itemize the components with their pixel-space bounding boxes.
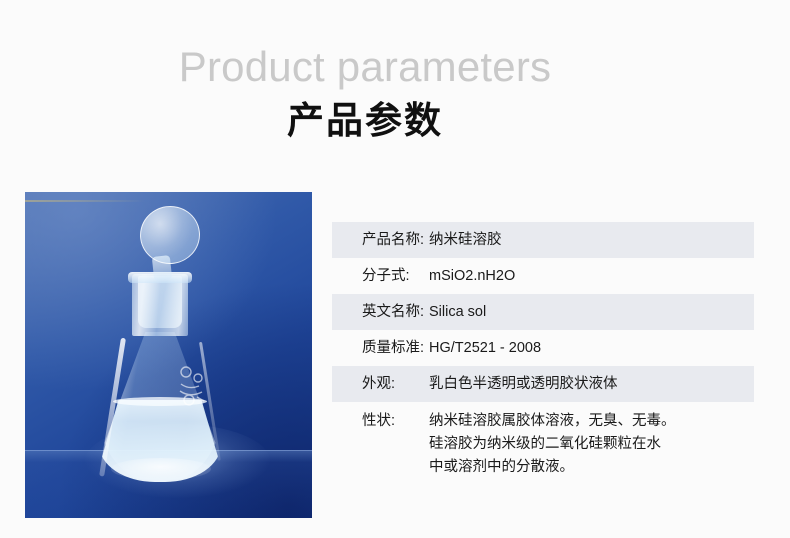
flask-bottom-sheen <box>111 458 211 480</box>
product-parameters-page: Product parameters 产品参数 <box>0 0 790 538</box>
spec-value-line: Silica sol <box>429 301 754 324</box>
flask-cap-disc <box>136 202 203 268</box>
table-row: 英文名称:Silica sol <box>332 294 754 330</box>
specification-table: 产品名称:纳米硅溶胶分子式:mSiO2.nH2O英文名称:Silica sol质… <box>332 222 754 485</box>
spec-label: 质量标准: <box>332 337 429 360</box>
spec-value: mSiO2.nH2O <box>429 265 754 288</box>
table-row: 质量标准:HG/T2521 - 2008 <box>332 330 754 366</box>
heading-block: Product parameters 产品参数 <box>0 42 730 144</box>
product-image <box>25 192 312 518</box>
page-title-chinese: 产品参数 <box>0 98 730 144</box>
spec-value-line: 纳米硅溶胶 <box>429 229 754 252</box>
table-row: 外观:乳白色半透明或透明胶状液体 <box>332 366 754 402</box>
spec-label: 分子式: <box>332 265 429 288</box>
spec-value-line: 纳米硅溶胶属胶体溶液，无臭、无毒。 <box>429 410 754 433</box>
table-row: 产品名称:纳米硅溶胶 <box>332 222 754 258</box>
spec-value-line: 硅溶胶为纳米级的二氧化硅颗粒在水 <box>429 433 754 456</box>
spec-value-line: mSiO2.nH2O <box>429 265 754 288</box>
spec-value: 乳白色半透明或透明胶状液体 <box>429 373 754 396</box>
table-row: 分子式:mSiO2.nH2O <box>332 258 754 294</box>
table-row: 性状:纳米硅溶胶属胶体溶液，无臭、无毒。硅溶胶为纳米级的二氧化硅颗粒在水中或溶剂… <box>332 402 754 485</box>
spec-value: 纳米硅溶胶 <box>429 229 754 252</box>
spec-value: Silica sol <box>429 301 754 324</box>
spec-label: 产品名称: <box>332 229 429 252</box>
erlenmeyer-flask <box>25 192 312 518</box>
flask-stopper <box>138 276 182 328</box>
spec-value: 纳米硅溶胶属胶体溶液，无臭、无毒。硅溶胶为纳米级的二氧化硅颗粒在水中或溶剂中的分… <box>429 410 754 479</box>
spec-value-line: HG/T2521 - 2008 <box>429 337 754 360</box>
spec-value-line: 中或溶剂中的分散液。 <box>429 456 754 479</box>
spec-label: 英文名称: <box>332 301 429 324</box>
spec-value: HG/T2521 - 2008 <box>429 337 754 360</box>
spec-label: 性状: <box>332 410 429 433</box>
flask-etched-marking <box>175 364 209 408</box>
page-title-english: Product parameters <box>0 42 730 92</box>
spec-label: 外观: <box>332 373 429 396</box>
spec-value-line: 乳白色半透明或透明胶状液体 <box>429 373 754 396</box>
